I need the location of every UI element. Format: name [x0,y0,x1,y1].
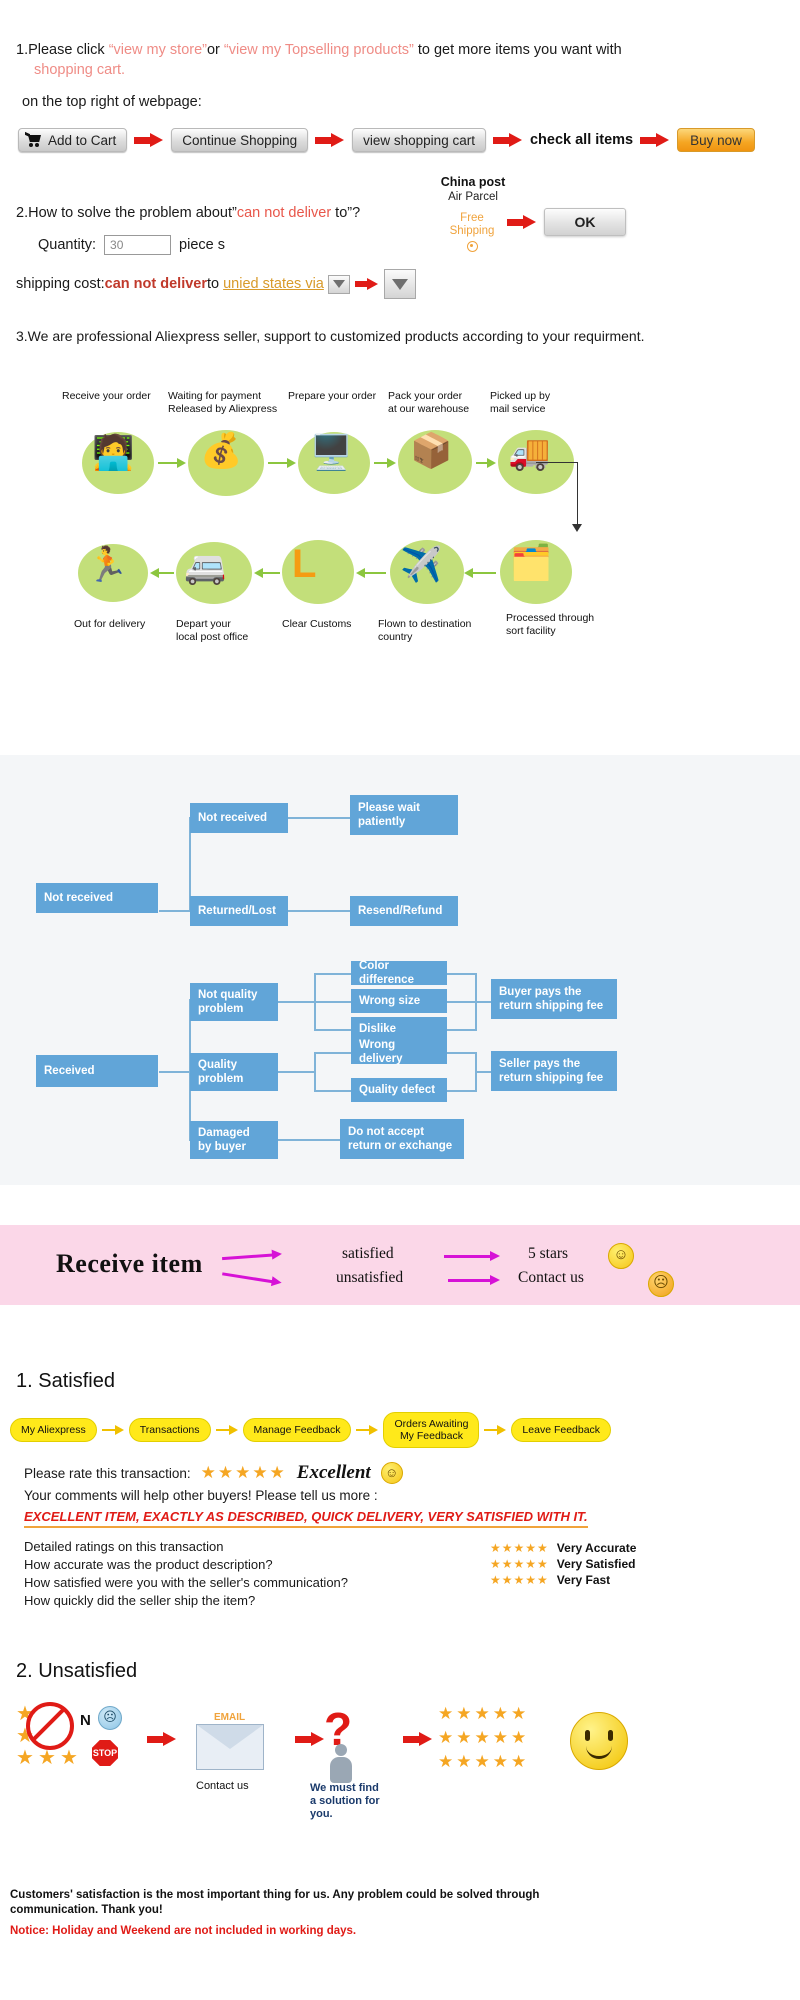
process-label-bottom-1: Out for delivery [74,618,184,631]
arrow-right-icon [403,1732,433,1746]
process-label-bottom-5: Processed through sort facility [506,612,616,638]
flow-node-color-difference: Color difference [351,961,447,985]
flow-line [447,1001,477,1003]
detail-answer-2: Very Satisfied [557,1556,636,1572]
monitor-icon: 🖥️ [310,436,352,470]
add-to-cart-label: Add to Cart [48,133,116,148]
step-manage-feedback[interactable]: Manage Feedback [243,1418,352,1442]
section-2-number: 2. [16,205,28,221]
person-icon [328,1744,354,1784]
worried-face-icon: ☹ [98,1706,122,1730]
flow-line [314,1090,352,1092]
section-1-line-1: 1.Please click “view my store”or “view m… [16,40,786,60]
footer-line-2: communication. Thank you! [10,1904,163,1916]
process-arrow-icon [268,458,296,468]
chevron-down-icon [392,279,408,290]
courier-running-icon: 🏃 [86,548,128,582]
flow-line [314,1001,352,1003]
detailed-rating-values: ★★★★★ Very Accurate ★★★★★ Very Satisfied… [490,1540,636,1588]
flow-line [314,1052,352,1054]
arrow-down-icon [572,524,582,532]
check-all-items-label: check all items [530,132,633,148]
s1-text-a: Please click [28,42,109,58]
unsatisfied-flow: ★ ★ ★ ★ ★ N ☹ STOP EMAIL Contact us ? We… [0,1700,800,1870]
quantity-input[interactable]: 30 [104,235,171,255]
delivery-truck-icon: 🚚 [508,436,550,470]
ok-button[interactable]: OK [544,208,626,236]
sorting-parcels-icon: 🗂️ [510,546,552,580]
flow-line [287,910,351,912]
shipping-cost-label: shipping cost: [16,276,105,292]
flow-node-quality-defect: Quality defect [351,1078,447,1102]
section-2-title: 2.How to solve the problem about”can not… [16,205,786,221]
receive-item-banner: Receive item satisfied unsatisfied 5 sta… [0,1225,800,1305]
flow-node-seller-pays: Seller pays the return shipping fee [491,1051,617,1091]
shipping-method-dropdown-button[interactable] [384,269,416,299]
country-dropdown-button[interactable] [328,275,350,294]
s1-text-b: or [207,42,224,58]
piece-label: piece s [179,237,225,253]
radio-selected-icon[interactable] [467,241,478,252]
star-icon: ★ [38,1748,56,1768]
person-at-computer-icon: 🧑‍💻 [92,436,134,470]
s2-text-a: How to solve the problem about” [28,205,237,221]
connector-line [536,462,578,463]
arrow-right-icon [444,1251,500,1261]
flow-node-damaged-by-buyer: Damaged by buyer [190,1121,278,1159]
flow-line [159,1071,191,1073]
delivery-van-icon: 🚐 [184,550,226,584]
detail-stars[interactable]: ★★★★★ [490,1572,549,1588]
flow-node-not-received: Not received [190,803,288,833]
detail-heading: Detailed ratings on this transaction [24,1538,784,1556]
step-orders-awaiting[interactable]: Orders Awaiting My Feedback [383,1412,479,1448]
comment-text[interactable]: EXCELLENT ITEM, EXACTLY AS DESCRIBED, QU… [24,1509,588,1528]
add-to-cart-button[interactable]: Add to Cart [18,128,127,152]
happy-face-icon: ☺ [381,1462,403,1484]
rate-label: Please rate this transaction: [24,1466,191,1481]
flow-line [447,1090,477,1092]
detail-row: ★★★★★ Very Satisfied [490,1556,636,1572]
process-label-top-5: Picked up by mail service [490,390,600,416]
flow-line [447,973,477,975]
process-arrow-icon [374,458,396,468]
process-arrow-icon [150,568,174,578]
detail-answer-3: Very Fast [557,1572,610,1588]
flow-node-not-received-root: Not received [36,883,158,913]
arrow-right-icon [295,1732,325,1746]
arrow-right-icon [484,1425,506,1435]
airplane-icon: ✈️ [400,548,442,582]
receive-item-title: Receive item [56,1249,203,1279]
arrow-right-icon [216,1425,238,1435]
section-2: 2.How to solve the problem about”can not… [16,205,786,299]
unsatisfied-label: unsatisfied [336,1269,403,1287]
process-label-top-1: Receive your order [62,390,172,403]
arrow-right-icon [315,133,345,147]
customs-icon: L [292,544,316,584]
top-right-hint: on the top right of webpage: [16,92,786,112]
unsat-stars-row-3: ★★★★★ [438,1752,529,1772]
instructions-page: 1.Please click “view my store”or “view m… [0,0,800,2000]
contact-us-label: Contact us [518,1269,584,1287]
flow-node-resend-refund: Resend/Refund [350,896,458,926]
view-shopping-cart-label: view shopping cart [363,133,475,148]
arrow-right-icon [222,1249,283,1263]
step-my-aliexpress[interactable]: My Aliexpress [10,1418,97,1442]
satisfied-heading: 1. Satisfied [16,1370,115,1393]
cannot-deliver-text: can not deliver [237,205,331,221]
process-arrow-icon [464,568,496,578]
arrow-right-icon [493,133,523,147]
flow-node-please-wait: Please wait patiently [350,795,458,835]
footer-notice: Notice: Holiday and Weekend are not incl… [10,1924,790,1939]
connector-line [577,462,578,527]
shopping-cart-text: shopping cart. [16,60,786,80]
star-icon: ★ [60,1748,78,1768]
flow-line [278,1139,340,1141]
process-label-top-4: Pack your order at our warehouse [388,390,498,416]
no-label: N [80,1714,91,1727]
detail-stars[interactable]: ★★★★★ [490,1556,549,1572]
shopping-cart-icon [25,133,43,147]
s1-text-c: to get more items you want with [414,42,622,58]
arrow-right-icon [134,133,164,147]
shipping-process-diagram: Receive your order Waiting for payment R… [0,372,800,742]
flow-line [278,1001,314,1003]
detail-question-3: How quickly did the seller ship the item… [24,1592,784,1610]
money-bag-icon: 💰 [200,434,242,468]
detail-stars[interactable]: ★★★★★ [490,1540,549,1556]
stop-sign-icon: STOP [92,1740,118,1766]
process-arrow-icon [254,568,280,578]
shipping-to: to [207,276,219,292]
flow-node-returned-lost: Returned/Lost [190,896,288,926]
footer-line-1: Customers' satisfaction is the most impo… [10,1889,539,1901]
flow-line [314,1029,352,1031]
process-arrow-icon [356,568,386,578]
view-shopping-cart-button[interactable]: view shopping cart [352,128,486,152]
section-1-number: 1. [16,42,28,58]
flow-line [314,973,352,975]
process-label-top-2: Waiting for payment Released by Aliexpre… [168,390,288,416]
arrow-right-icon [356,1425,378,1435]
flow-node-do-not-accept: Do not accept return or exchange [340,1119,464,1159]
rating-stars[interactable]: ★★★★★ [201,1463,287,1483]
contact-us-caption: Contact us [196,1780,249,1793]
view-my-store-quote: “view my store” [109,42,207,58]
comments-label: Your comments will help other buyers! Pl… [24,1488,784,1503]
ok-row: OK [500,208,626,236]
shipping-cannot-deliver: can not deliver [105,276,207,292]
prohibited-icon [26,1702,74,1750]
sad-face-icon: ☹ [648,1271,674,1297]
flow-line [447,1052,477,1054]
arrow-right-icon [448,1275,500,1285]
rating-block: Please rate this transaction: ★★★★★ Exce… [24,1462,784,1610]
section-3-text: 3.We are professional Aliexpress seller,… [16,328,645,344]
process-arrow-icon [158,458,186,468]
flow-line [287,817,351,819]
step-transactions[interactable]: Transactions [129,1418,211,1442]
arrow-right-icon [147,1732,177,1746]
return-policy-flowchart: Not received Not received Please wait pa… [0,755,800,1185]
view-topselling-quote: “view my Topselling products” [224,42,414,58]
worker-packing-icon: 📦 [410,434,452,468]
flow-line [159,910,191,912]
star-icon: ★ [16,1748,34,1768]
detail-question-1: How accurate was the product description… [24,1556,784,1574]
flow-node-wrong-size: Wrong size [351,989,447,1013]
detail-row: ★★★★★ Very Fast [490,1572,636,1588]
detail-question-2: How satisfied were you with the seller's… [24,1574,784,1592]
excellent-label: Excellent [297,1462,371,1484]
continue-shopping-label: Continue Shopping [182,133,297,148]
carrier-name: China post [418,175,528,189]
happy-face-icon: ☺ [608,1243,634,1269]
process-label-bottom-3: Clear Customs [282,618,392,631]
shipping-cost-row: shipping cost: can not deliver to unied … [16,269,786,299]
buy-now-button[interactable]: Buy now [677,128,755,152]
flow-node-quality-problem: Quality problem [190,1053,278,1091]
satisfied-label: satisfied [342,1245,394,1263]
arrow-right-icon [102,1425,124,1435]
process-label-top-3: Prepare your order [288,390,398,403]
flow-node-not-quality-problem: Not quality problem [190,983,278,1021]
flow-node-wrong-delivery: Wrong delivery [351,1040,447,1064]
footer-note: Customers' satisfaction is the most impo… [10,1888,790,1939]
buy-now-label: Buy now [690,133,742,148]
flow-node-received-root: Received [36,1055,158,1087]
continue-shopping-button[interactable]: Continue Shopping [171,128,308,152]
big-smiley-icon [570,1712,628,1770]
email-envelope-icon [196,1724,264,1770]
process-arrow-icon [476,458,496,468]
flow-line [278,1071,314,1073]
detail-answer-1: Very Accurate [557,1540,637,1556]
country-select-link[interactable]: unied states via [223,276,324,292]
solution-caption: We must find a solution for you. [310,1782,380,1821]
section-1: 1.Please click “view my store”or “view m… [16,40,786,112]
unsat-stars-row-2: ★★★★★ [438,1728,529,1748]
rate-row: Please rate this transaction: ★★★★★ Exce… [24,1462,784,1484]
detail-row: ★★★★★ Very Accurate [490,1540,636,1556]
flow-line [314,1052,316,1092]
unsat-stars-row-1: ★★★★★ [438,1704,529,1724]
arrow-right-icon [640,133,670,147]
arrow-right-icon [222,1268,283,1287]
checkout-button-flow: Add to Cart Continue Shopping view shopp… [18,128,755,152]
detailed-ratings: Detailed ratings on this transaction How… [24,1538,784,1610]
step-leave-feedback[interactable]: Leave Feedback [511,1418,611,1442]
process-label-bottom-2: Depart your local post office [176,618,286,644]
feedback-step-flow: My Aliexpress Transactions Manage Feedba… [10,1412,611,1448]
five-stars-label: 5 stars [528,1245,568,1263]
email-label: EMAIL [214,1712,245,1723]
quantity-label: Quantity: [38,237,96,253]
arrow-right-icon [355,278,379,290]
quantity-row: Quantity: 30 piece s [16,235,786,255]
process-label-bottom-4: Flown to destination country [378,618,498,644]
flow-node-buyer-pays: Buyer pays the return shipping fee [491,979,617,1019]
unsatisfied-heading: 2. Unsatisfied [16,1660,137,1683]
chevron-down-icon [333,280,345,288]
arrow-right-icon [507,215,537,229]
flow-line [447,1029,477,1031]
s2-text-b: to”? [331,205,360,221]
carrier-service: Air Parcel [418,191,528,203]
carrier-info: China post Air Parcel [418,175,528,203]
